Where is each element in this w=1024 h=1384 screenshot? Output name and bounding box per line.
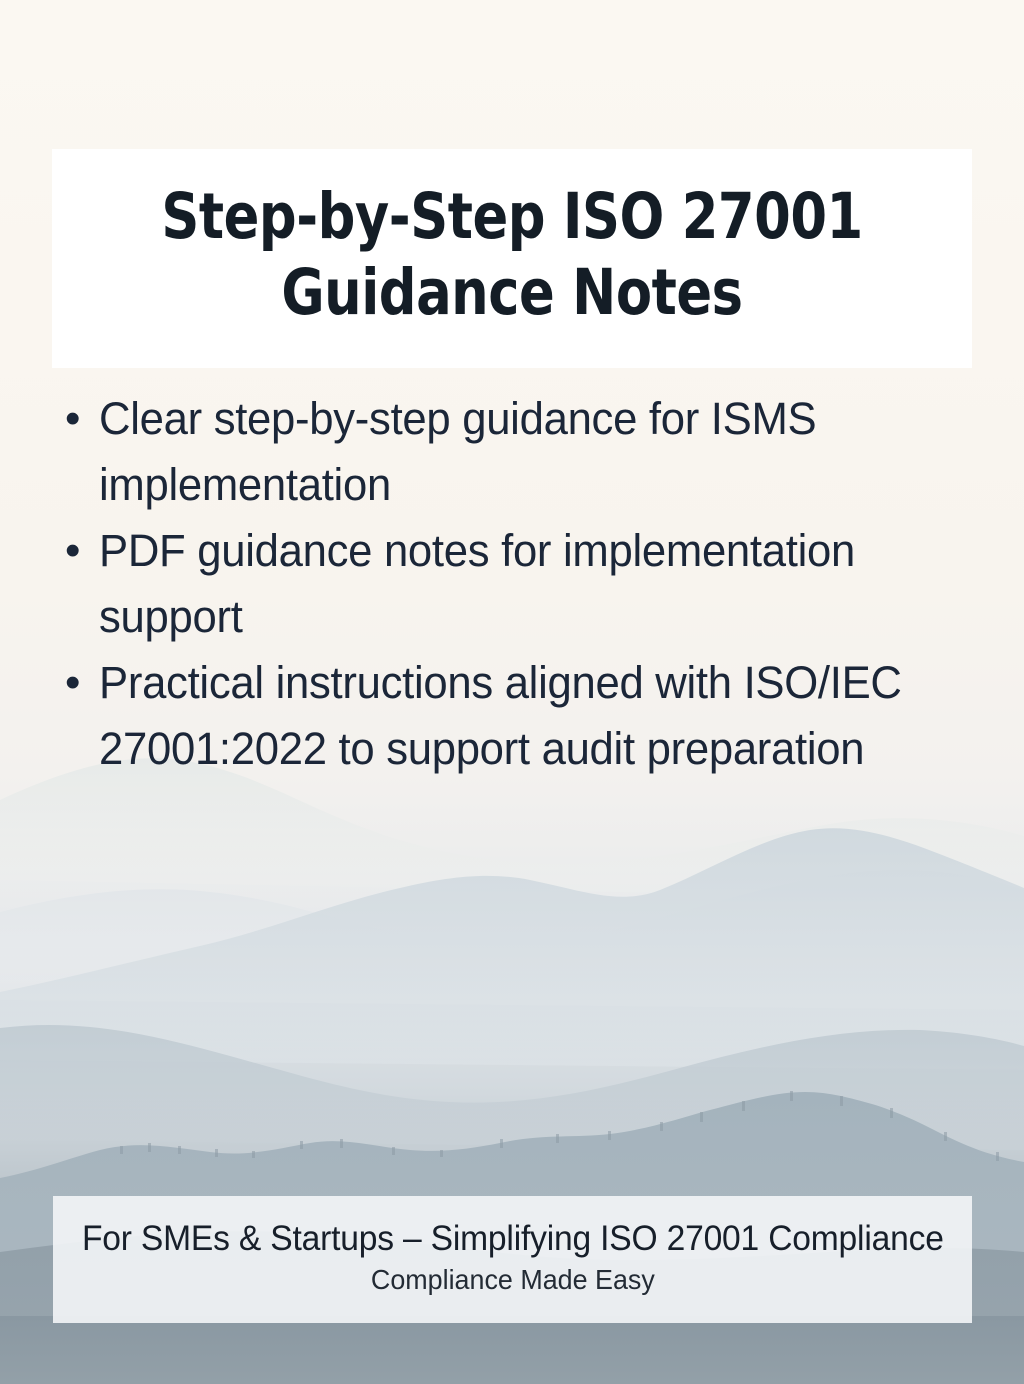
bullet-point-icon: • <box>52 518 99 584</box>
feature-bullet-list: • Clear step-by-step guidance for ISMS i… <box>52 386 982 782</box>
footer-subtitle: Compliance Made Easy <box>371 1261 655 1299</box>
bullet-point-icon: • <box>52 650 99 716</box>
bullet-point-icon: • <box>52 386 99 452</box>
title-card: Step-by-Step ISO 27001 Guidance Notes <box>52 149 972 368</box>
list-item: • Clear step-by-step guidance for ISMS i… <box>52 386 982 518</box>
list-item: • Practical instructions aligned with IS… <box>52 650 982 782</box>
slide-canvas: Step-by-Step ISO 27001 Guidance Notes • … <box>0 0 1024 1384</box>
list-item-label: Clear step-by-step guidance for ISMS imp… <box>99 386 956 518</box>
footer-banner: For SMEs & Startups – Simplifying ISO 27… <box>53 1196 972 1323</box>
list-item-label: Practical instructions aligned with ISO/… <box>99 650 956 782</box>
list-item: • PDF guidance notes for implementation … <box>52 518 982 650</box>
page-title-line-2: Guidance Notes <box>281 255 742 331</box>
list-item-label: PDF guidance notes for implementation su… <box>99 518 956 650</box>
footer-tagline: For SMEs & Startups – Simplifying ISO 27… <box>82 1217 944 1261</box>
page-title-line-1: Step-by-Step ISO 27001 <box>161 179 862 255</box>
